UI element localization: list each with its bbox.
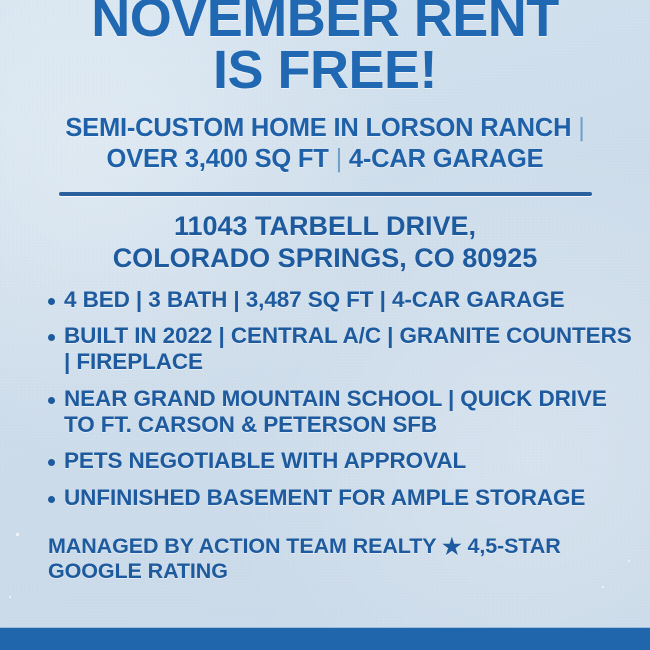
- list-item: UNFINISHED BASEMENT FOR AMPLE STORAGE: [48, 485, 636, 511]
- divider-wrapper: [14, 192, 636, 196]
- subheading-separator-1: |: [578, 114, 584, 142]
- subheading-line-1-text: SEMI-CUSTOM HOME IN LORSON RANCH: [65, 114, 571, 142]
- flyer-content: NOVEMBER RENT IS FREE! SEMI-CUSTOM HOME …: [0, 0, 650, 643]
- bottom-accent-bar: [0, 627, 650, 650]
- bullet-icon: [48, 397, 55, 404]
- horizontal-divider: [59, 192, 592, 196]
- management-footer: MANAGED BY ACTION TEAM REALTY ★ 4,5-STAR…: [14, 533, 636, 585]
- star-icon: ★: [442, 534, 462, 560]
- subheading-line-2-part-1: OVER 3,400 SQ FT: [107, 145, 329, 173]
- subheading-line-2-part-2: 4-CAR GARAGE: [349, 145, 544, 173]
- feature-text: 4 BED | 3 BATH | 3,487 SQ FT | 4-CAR GAR…: [64, 287, 565, 312]
- subheading-separator-2: |: [336, 145, 342, 173]
- headline: NOVEMBER RENT IS FREE!: [14, 0, 636, 97]
- feature-text: UNFINISHED BASEMENT FOR AMPLE STORAGE: [64, 485, 585, 510]
- feature-text: PETS NEGOTIABLE WITH APPROVAL: [64, 448, 466, 473]
- footer-prefix: MANAGED BY ACTION TEAM REALTY: [48, 534, 436, 558]
- bullet-icon: [48, 298, 55, 305]
- feature-text: NEAR GRAND MOUNTAIN SCHOOL | QUICK DRIVE…: [64, 386, 607, 437]
- property-address: 11043 TARBELL DRIVE, COLORADO SPRINGS, C…: [14, 210, 636, 275]
- subheading-line-2: OVER 3,400 SQ FT | 4-CAR GARAGE: [14, 144, 636, 175]
- address-line-2: COLORADO SPRINGS, CO 80925: [14, 242, 636, 274]
- headline-line-1: NOVEMBER RENT: [14, 0, 636, 45]
- headline-line-2: IS FREE!: [14, 45, 636, 97]
- list-item: 4 BED | 3 BATH | 3,487 SQ FT | 4-CAR GAR…: [48, 287, 636, 313]
- subheading: SEMI-CUSTOM HOME IN LORSON RANCH | OVER …: [14, 113, 636, 175]
- address-line-1: 11043 TARBELL DRIVE,: [14, 210, 636, 242]
- bullet-icon: [48, 496, 55, 503]
- list-item: PETS NEGOTIABLE WITH APPROVAL: [48, 448, 636, 474]
- list-item: BUILT IN 2022 | CENTRAL A/C | GRANITE CO…: [48, 323, 636, 376]
- feature-text: BUILT IN 2022 | CENTRAL A/C | GRANITE CO…: [64, 323, 632, 374]
- feature-list: 4 BED | 3 BATH | 3,487 SQ FT | 4-CAR GAR…: [14, 287, 636, 511]
- listing-flyer: NOVEMBER RENT IS FREE! SEMI-CUSTOM HOME …: [0, 0, 650, 650]
- bullet-icon: [48, 459, 55, 466]
- list-item: NEAR GRAND MOUNTAIN SCHOOL | QUICK DRIVE…: [48, 386, 636, 439]
- bullet-icon: [48, 334, 55, 341]
- subheading-line-1: SEMI-CUSTOM HOME IN LORSON RANCH |: [14, 113, 636, 144]
